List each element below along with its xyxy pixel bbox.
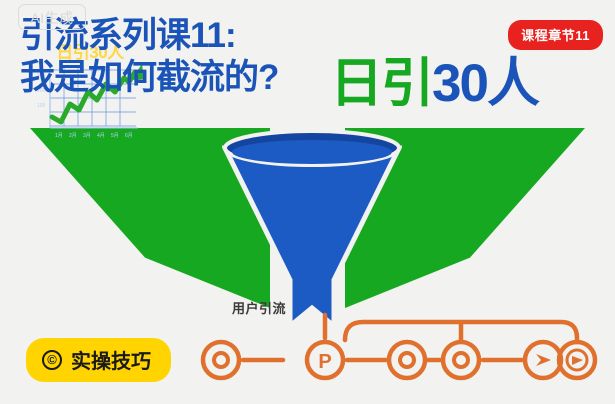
- flow-node-p: P: [307, 342, 343, 378]
- svg-text:3月: 3月: [83, 133, 91, 139]
- flow-node-play-2: [559, 342, 595, 378]
- headline-highlight: 日引30人: [330, 57, 538, 110]
- svg-text:6月: 6月: [125, 133, 133, 139]
- ai-watermark: AI生成: [18, 4, 86, 30]
- flow-node-target-1: [203, 342, 239, 378]
- svg-text:100: 100: [37, 103, 46, 109]
- highlight-blue-text: 30人: [432, 54, 538, 113]
- chapter-badge: 课程章节11: [508, 20, 603, 50]
- poster-canvas: AI生成 课程章节11 引流系列课11: 我是如何截流的? 日引30人 日引30…: [0, 0, 615, 404]
- flow-node-target-2: [389, 342, 425, 378]
- copyright-icon: ©: [42, 350, 62, 370]
- skill-badge-label: 实操技巧: [71, 345, 151, 374]
- svg-text:P: P: [318, 351, 331, 373]
- svg-text:4月: 4月: [97, 133, 105, 139]
- headline-line-2: 我是如何截流的?: [20, 60, 278, 95]
- highlight-green-text: 日引: [330, 54, 432, 113]
- flow-node-target-3: [443, 342, 479, 378]
- svg-text:5月: 5月: [111, 133, 119, 139]
- svg-text:2月: 2月: [69, 133, 77, 139]
- svg-text:1月: 1月: [55, 133, 63, 139]
- skill-badge: © 实操技巧: [26, 338, 171, 382]
- flow-node-play-1: [525, 342, 561, 378]
- flow-label: 用户引流: [232, 298, 286, 317]
